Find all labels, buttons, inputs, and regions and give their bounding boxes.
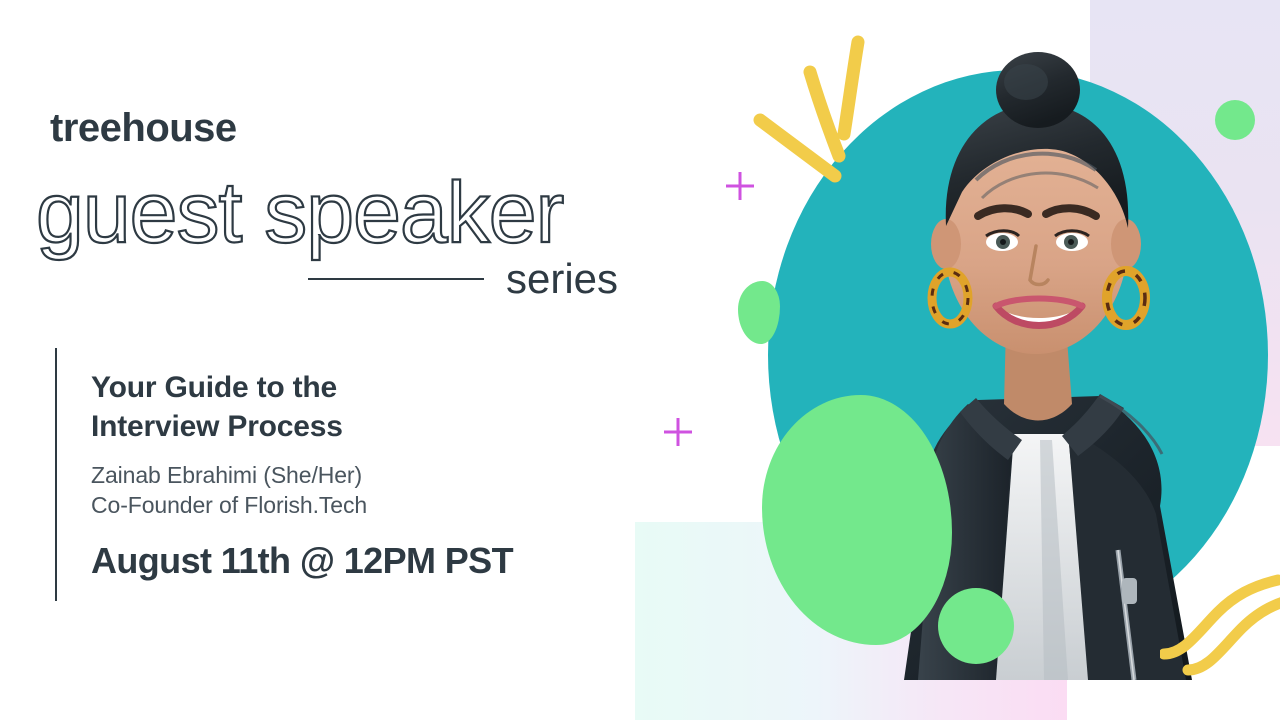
series-label: series: [506, 258, 618, 300]
series-divider-rule: [308, 278, 484, 280]
yellow-wave-strokes-icon: [1160, 570, 1280, 680]
session-datetime: August 11th @ 12PM PST: [91, 543, 651, 579]
vertical-accent-rule: [55, 348, 57, 601]
talk-title-line2: Interview Process: [91, 410, 343, 443]
speaker-role: Co-Founder of Florish.Tech: [91, 490, 651, 520]
plus-mark-top: [726, 172, 754, 200]
speaker-name: Zainab Ebrahimi (She/Her): [91, 460, 651, 490]
session-details: Your Guide to the Interview Process Zain…: [91, 368, 651, 579]
hero-headline-text: guest speaker: [36, 165, 564, 261]
series-row: series: [308, 258, 618, 300]
hero-headline-outline: guest speaker: [36, 158, 656, 268]
promo-graphic: treehouse guest speaker series Your Guid…: [0, 0, 1280, 720]
brand-wordmark: treehouse: [50, 108, 237, 148]
plus-mark-left: [664, 418, 692, 446]
green-dot-bottom: [938, 588, 1014, 664]
talk-title-line1: Your Guide to the: [91, 371, 337, 404]
talk-title: Your Guide to the Interview Process: [91, 368, 651, 446]
